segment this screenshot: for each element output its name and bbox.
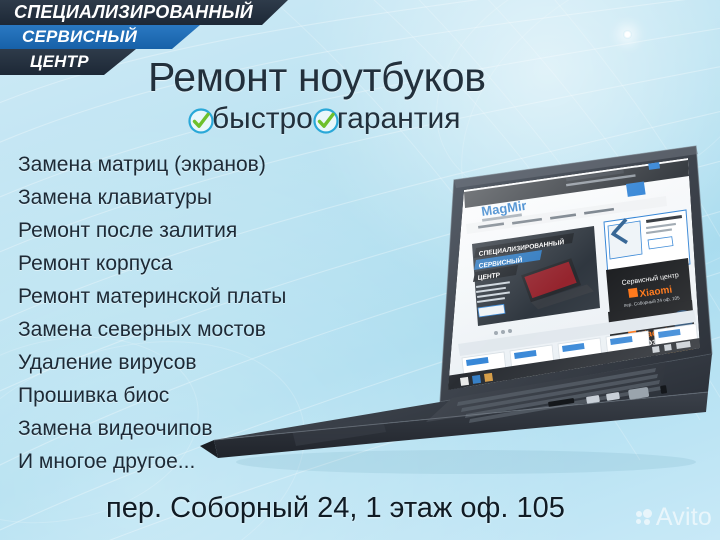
banner-service: СЕРВИСНЫЙ (0, 25, 222, 49)
service-item: Ремонт корпуса (18, 247, 348, 280)
banner-specialized-label: СПЕЦИАЛИЗИРОВАННЫЙ (14, 2, 253, 23)
banner-specialized: СПЕЦИАЛИЗИРОВАННЫЙ (0, 0, 302, 25)
benefit-fast-label: быстро (212, 102, 313, 136)
avito-dots-logo-icon (636, 509, 653, 526)
service-item: Удаление вирусов (18, 346, 348, 379)
service-item: Замена видеочипов (18, 412, 348, 445)
address-text: пер. Соборный 24, 1 этаж оф. 105 (106, 492, 565, 525)
service-item: И многое другое... (18, 445, 348, 478)
service-item: Замена клавиатуры (18, 181, 348, 214)
avito-wordmark: Avito (656, 503, 712, 532)
advertisement-poster: MagMir СПЕЦИАЛИЗИРОВАННЫЙ СЕРВИСНЫЙ (0, 0, 720, 540)
benefits-line: быстро гарантия (188, 102, 461, 136)
page-title: Ремонт ноутбуков (148, 54, 568, 101)
light-glow-dot (623, 30, 632, 39)
service-item: Ремонт материнской платы (18, 280, 348, 313)
green-check-circle-icon-2 (313, 108, 339, 134)
banner-service-label: СЕРВИСНЫЙ (22, 27, 137, 47)
benefit-warranty-label: гарантия (337, 102, 461, 136)
banner-center-label: ЦЕНТР (30, 52, 89, 72)
avito-watermark: Avito (636, 503, 712, 532)
service-item: Ремонт после залития (18, 214, 348, 247)
service-item: Замена северных мостов (18, 313, 348, 346)
services-list: Замена матриц (экранов) Замена клавиатур… (18, 148, 348, 478)
green-check-circle-icon (188, 108, 214, 134)
service-item: Замена матриц (экранов) (18, 148, 348, 181)
service-item: Прошивка биос (18, 379, 348, 412)
banner-center: ЦЕНТР (0, 49, 166, 75)
